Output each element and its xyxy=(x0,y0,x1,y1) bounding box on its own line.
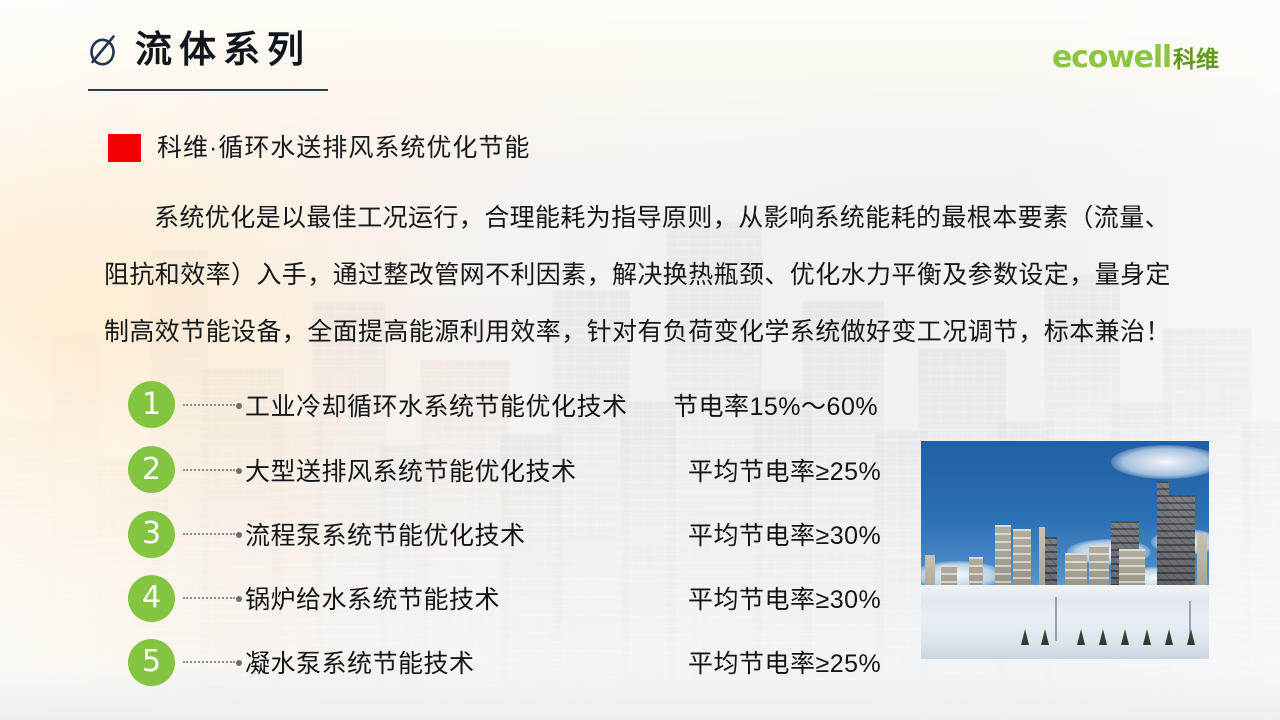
list-item-name: 锅炉给水系统节能技术 xyxy=(245,580,500,616)
list-badge-number: 3 xyxy=(128,511,175,558)
list-item-value: 平均节电率≥25% xyxy=(688,644,881,680)
section-title: 科维·循环水送排风系统优化节能 xyxy=(157,136,530,161)
list-item[interactable]: 4 锅炉给水系统节能技术 平均节电率≥30% xyxy=(128,566,928,630)
list-badge-number: 2 xyxy=(128,446,175,493)
leader-line-icon xyxy=(183,533,235,535)
red-square-bullet-icon xyxy=(108,134,141,162)
paragraph-line: 制高效节能设备，全面提高能源利用效率，针对有负荷变化学系统做好变工况调节，标本兼… xyxy=(104,304,1219,361)
list-item-name: 工业冷却循环水系统节能优化技术 xyxy=(245,387,628,423)
logo-text-cn: 科维 xyxy=(1173,48,1219,71)
list-badge-number: 1 xyxy=(128,381,175,428)
list-badge-number: 5 xyxy=(128,639,175,686)
list-item[interactable]: 2 大型送排风系统节能优化技术 平均节电率≥25% xyxy=(128,437,928,502)
leader-line-icon xyxy=(183,661,235,663)
list-item[interactable]: 3 流程泵系统节能优化技术 平均节电率≥30% xyxy=(128,502,928,566)
industrial-plant-photo xyxy=(921,441,1209,659)
list-item-value: 平均节电率≥30% xyxy=(688,580,881,616)
paragraph-line: 阻抗和效率）入手，通过整改管网不利因素，解决换热瓶颈、优化水力平衡及参数设定，量… xyxy=(104,247,1219,304)
list-item-name: 凝水泵系统节能技术 xyxy=(245,644,475,680)
title-underline xyxy=(88,89,328,91)
title-row: 流体系列 xyxy=(88,31,311,68)
list-item-value: 节电率15%～60% xyxy=(673,387,878,423)
leader-line-icon xyxy=(183,469,235,471)
slide: 流体系列 ecowell 科维 科维·循环水送排风系统优化节能 系统优化是以最佳… xyxy=(0,0,1280,720)
list-item-name: 流程泵系统节能优化技术 xyxy=(245,516,526,552)
list-item-value: 平均节电率≥30% xyxy=(688,516,881,552)
list-item-name: 大型送排风系统节能优化技术 xyxy=(245,452,577,488)
list-item[interactable]: 5 凝水泵系统节能技术 平均节电率≥25% xyxy=(128,630,928,694)
list-item-value: 平均节电率≥25% xyxy=(688,452,881,488)
body-paragraph: 系统优化是以最佳工况运行，合理能耗为指导原则，从影响系统能耗的最根本要素（流量、… xyxy=(104,190,1219,361)
leader-line-icon xyxy=(183,597,235,599)
logo-text-en: ecowell xyxy=(1052,43,1171,73)
page-title: 流体系列 xyxy=(135,31,311,68)
ecowell-logo: ecowell 科维 xyxy=(1052,43,1219,73)
list-item[interactable]: 1 工业冷却循环水系统节能优化技术 节电率15%～60% xyxy=(128,372,928,437)
leader-line-icon xyxy=(183,404,235,406)
paragraph-line: 系统优化是以最佳工况运行，合理能耗为指导原则，从影响系统能耗的最根本要素（流量、 xyxy=(104,190,1219,247)
section-heading: 科维·循环水送排风系统优化节能 xyxy=(108,134,530,162)
technology-list: 1 工业冷却循环水系统节能优化技术 节电率15%～60% 2 大型送排风系统节能… xyxy=(128,372,928,694)
slide-header: 流体系列 ecowell 科维 xyxy=(0,0,1280,110)
list-badge-number: 4 xyxy=(128,575,175,622)
slashed-circle-icon xyxy=(88,33,118,67)
